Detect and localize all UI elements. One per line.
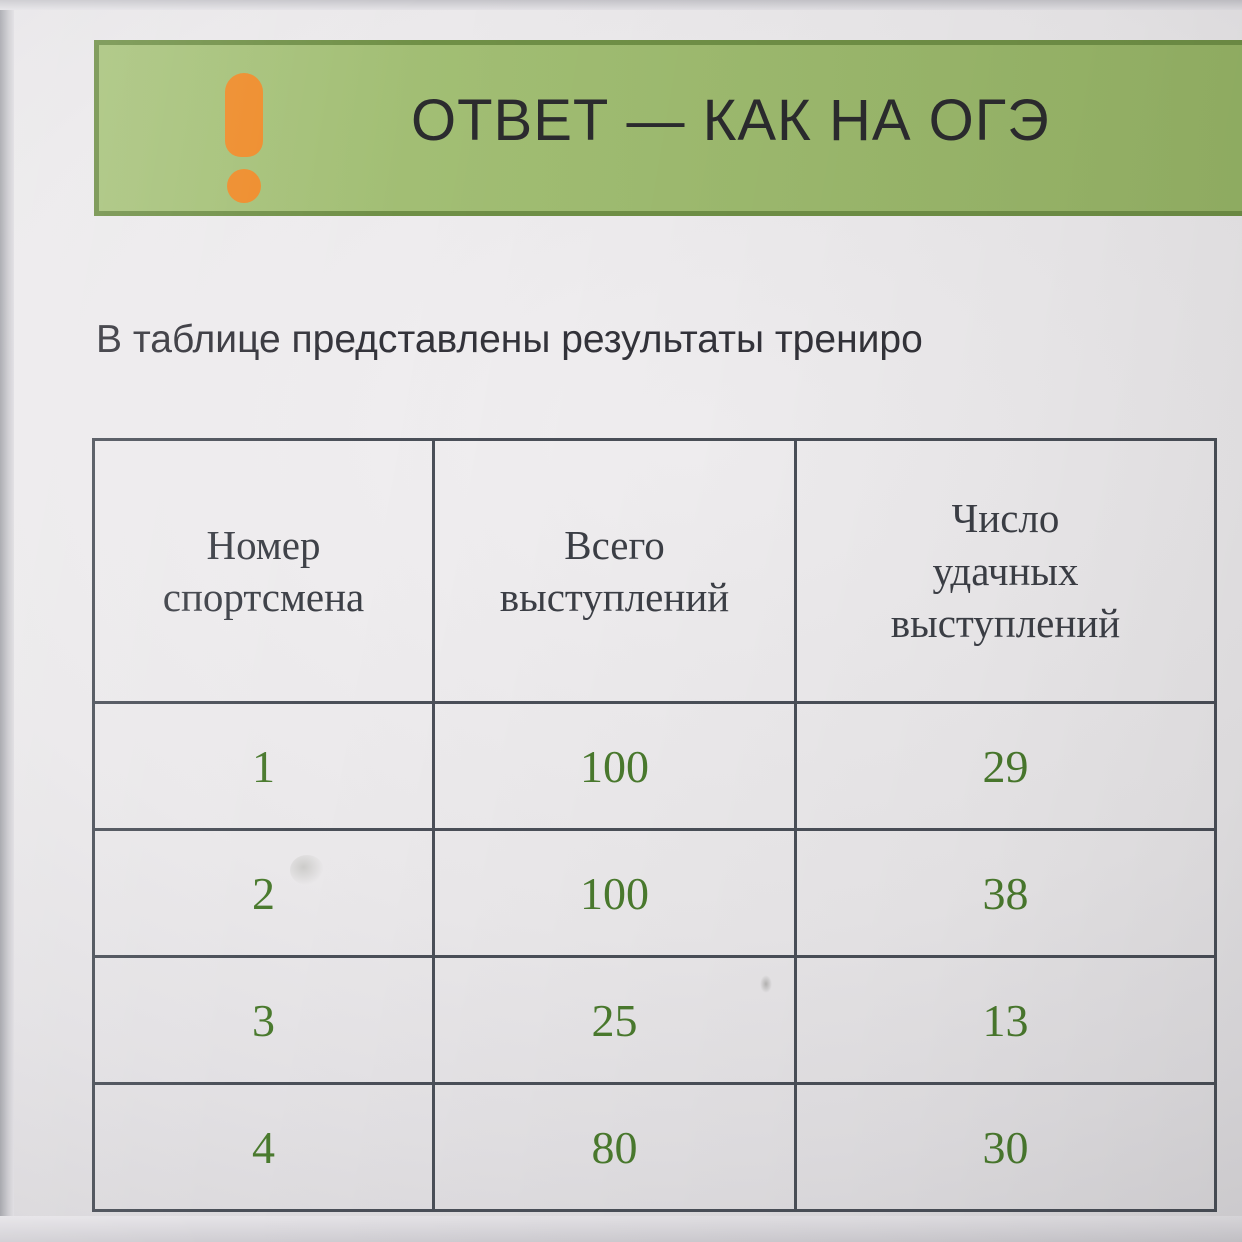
table-row: 3 25 13	[94, 957, 1216, 1084]
cell-athlete-number: 1	[94, 703, 434, 830]
cell-successful: 29	[796, 703, 1216, 830]
results-table: Номер спортсмена Всего выступлений Число…	[92, 438, 1217, 1212]
cell-athlete-number: 3	[94, 957, 434, 1084]
cell-successful: 38	[796, 830, 1216, 957]
intro-paragraph: В таблице представлены результаты тренир…	[96, 318, 923, 362]
results-table-wrapper: Номер спортсмена Всего выступлений Число…	[92, 438, 1214, 1212]
photo-edge-bottom	[0, 1216, 1242, 1242]
cell-total: 25	[434, 957, 796, 1084]
table-row: 4 80 30	[94, 1084, 1216, 1211]
photo-page: ОТВЕТ — КАК НА ОГЭ В таблице представлен…	[0, 0, 1242, 1242]
exclamation-mark-icon	[221, 73, 267, 195]
table-row: 2 100 38	[94, 830, 1216, 957]
cell-total: 100	[434, 830, 796, 957]
table-header-row: Номер спортсмена Всего выступлений Число…	[94, 440, 1216, 703]
header-line-1: Всего	[441, 519, 788, 571]
cell-total: 100	[434, 703, 796, 830]
header-line-1: Номер	[101, 519, 426, 571]
header-line-1: Число	[803, 492, 1208, 544]
column-header-athlete-number: Номер спортсмена	[94, 440, 434, 703]
header-line-2: удачных	[803, 545, 1208, 597]
cell-successful: 13	[796, 957, 1216, 1084]
photo-edge-left	[0, 0, 14, 1242]
column-header-successful-performances: Число удачных выступлений	[796, 440, 1216, 703]
cell-total: 80	[434, 1084, 796, 1211]
cell-athlete-number: 2	[94, 830, 434, 957]
table-row: 1 100 29	[94, 703, 1216, 830]
column-header-total-performances: Всего выступлений	[434, 440, 796, 703]
header-line-2: выступлений	[441, 571, 788, 623]
paper-smudge	[290, 855, 324, 885]
header-line-2: спортсмена	[101, 571, 426, 623]
header-line-3: выступлений	[803, 597, 1208, 649]
photo-edge-top	[0, 0, 1242, 10]
cell-successful: 30	[796, 1084, 1216, 1211]
cell-athlete-number: 4	[94, 1084, 434, 1211]
answer-banner: ОТВЕТ — КАК НА ОГЭ	[94, 40, 1242, 216]
paper-mark	[760, 975, 772, 993]
banner-title: ОТВЕТ — КАК НА ОГЭ	[411, 87, 1050, 154]
